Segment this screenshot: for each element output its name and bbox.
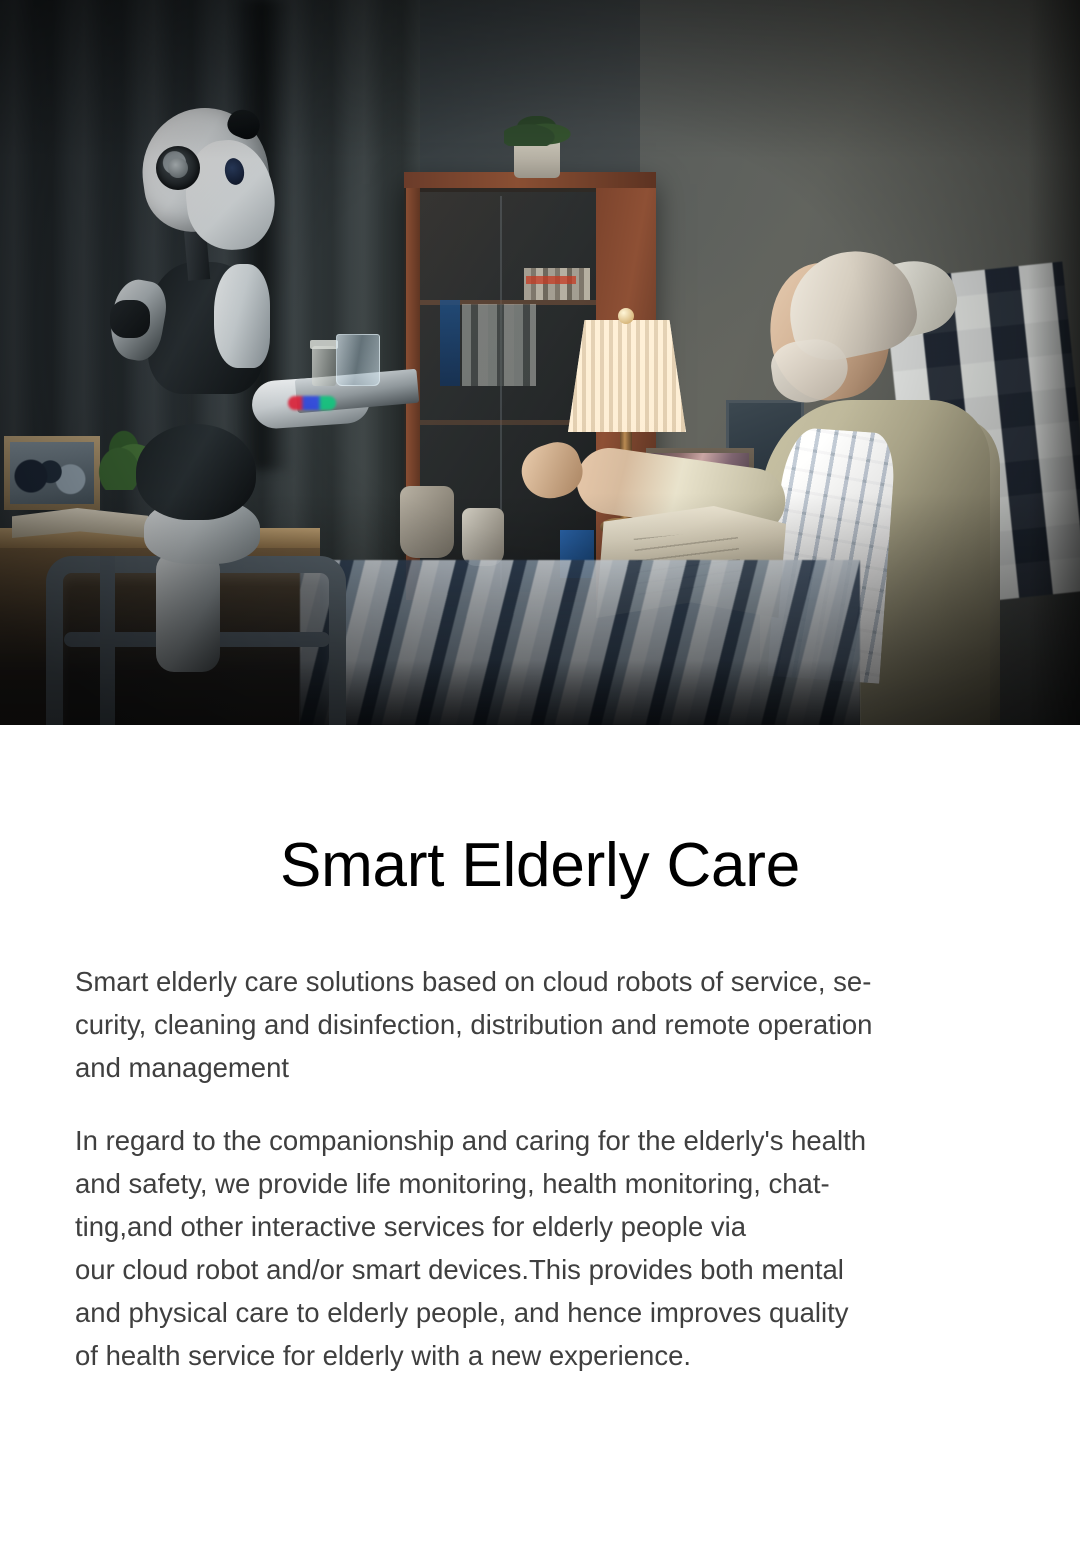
bookcase-red-book	[526, 276, 576, 284]
bedding-shadow	[300, 660, 860, 725]
bookcase-books-lower	[462, 304, 536, 386]
lamp-finial	[618, 308, 634, 324]
bookcase-blue-book	[440, 300, 460, 386]
desk-picture-frame	[4, 436, 100, 510]
body-copy: Smart elderly care solutions based on cl…	[0, 960, 1080, 1377]
hero-image	[0, 0, 1080, 725]
paragraph-line: Smart elderly care solutions based on cl…	[75, 960, 1010, 1003]
wall-corner-shadow	[1028, 0, 1080, 725]
water-glass	[336, 334, 380, 386]
vase-small	[462, 508, 504, 566]
robot-left-hand	[110, 300, 150, 338]
paragraph-line: of health service for elderly with a new…	[75, 1334, 1010, 1377]
bookcase-books-upper	[524, 268, 590, 300]
bed-side-rail-post	[100, 556, 115, 725]
paragraph-line: curity, cleaning and disinfection, distr…	[75, 1003, 1010, 1046]
paragraph-solutions-summary: Smart elderly care solutions based on cl…	[75, 960, 1010, 1089]
paragraph-companionship-detail: In regard to the companionship and carin…	[75, 1119, 1010, 1377]
pill-bottle-cap	[310, 340, 338, 349]
paragraph-line: ting,and other interactive services for …	[75, 1205, 1010, 1248]
paragraph-line: and physical care to elderly people, and…	[75, 1291, 1010, 1334]
paragraph-line: and safety, we provide life monitoring, …	[75, 1162, 1010, 1205]
content-section: Smart Elderly Care Smart elderly care so…	[0, 725, 1080, 1377]
robot-leg	[156, 552, 220, 672]
vase-large	[400, 486, 454, 558]
page-root: Smart Elderly Care Smart elderly care so…	[0, 0, 1080, 1561]
plant-leaves-on-bookcase	[504, 116, 572, 146]
page-title: Smart Elderly Care	[0, 725, 1080, 898]
robot-status-led	[288, 396, 336, 410]
paragraph-line: and management	[75, 1046, 1010, 1089]
desk-picture-frame-photo	[10, 442, 94, 504]
lamp-shade	[568, 320, 686, 432]
pill-bottle	[312, 346, 336, 386]
paragraph-line: our cloud robot and/or smart devices.Thi…	[75, 1248, 1010, 1291]
robot-ear-inner-disc	[168, 158, 188, 178]
robot-shoulder	[214, 264, 270, 368]
robot-hip	[136, 424, 256, 520]
paragraph-line: In regard to the companionship and carin…	[75, 1119, 1010, 1162]
